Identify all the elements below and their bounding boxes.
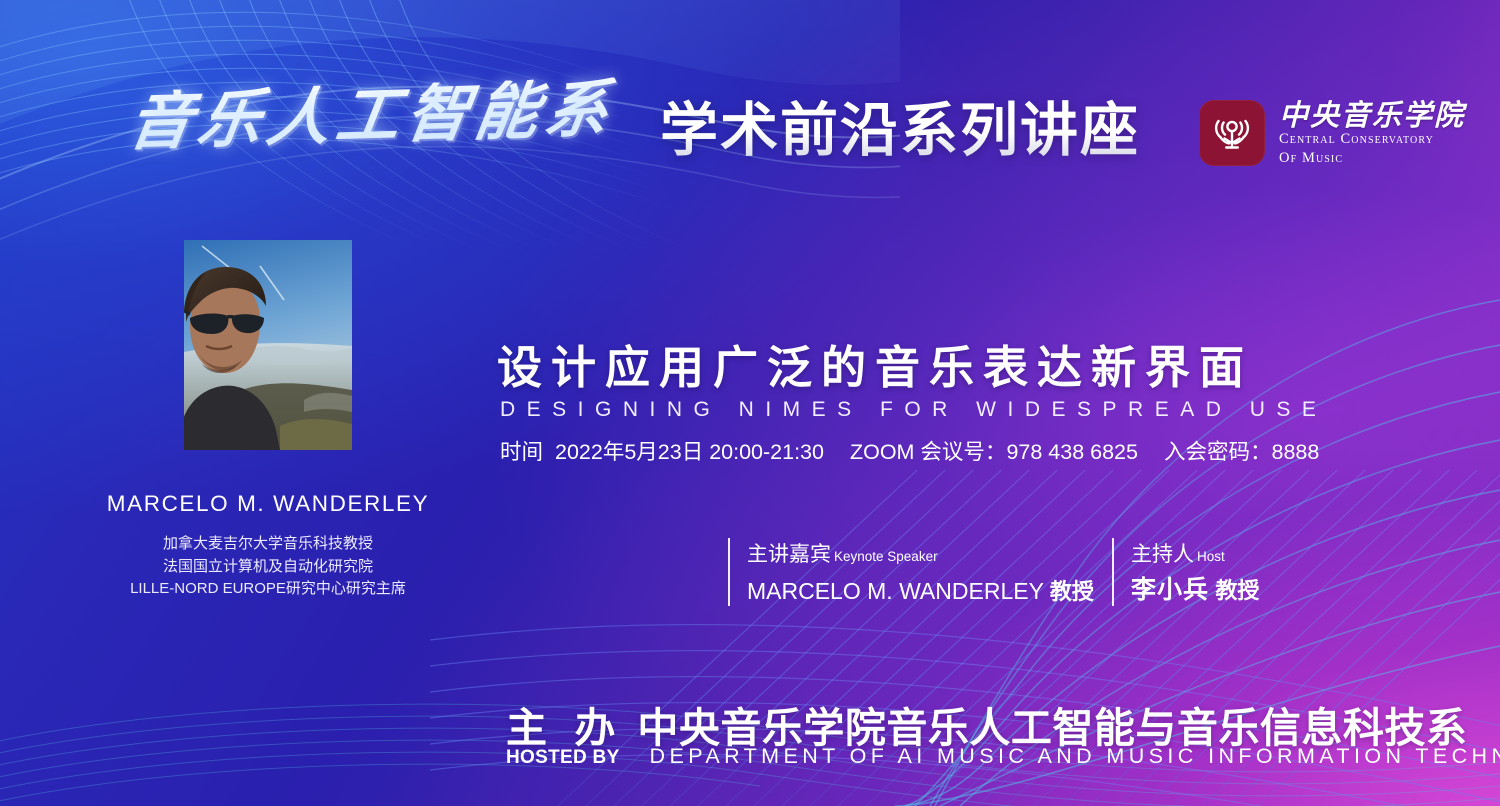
keynote-person-title: 教授 — [1050, 579, 1094, 604]
password-value: 8888 — [1271, 440, 1319, 464]
host-credit-body: 主持人 Host 李小兵 教授 — [1131, 538, 1259, 606]
zoom-label: ZOOM 会议号： — [850, 440, 1006, 464]
logo-name-cn: 中央音乐学院 — [1279, 100, 1465, 130]
logo-name-en-line1: Central Conservatory — [1279, 131, 1465, 148]
time-value: 2022年5月23日 20:00-21:30 — [555, 440, 824, 464]
keynote-person: MARCELO M. WANDERLEY 教授 — [747, 574, 1094, 606]
emblem-glyph — [1209, 110, 1255, 156]
speaker-affiliations: 加拿大麦吉尔大学音乐科技教授 法国国立计算机及自动化研究院 LILLE-NORD… — [50, 533, 486, 601]
series-title: 学术前沿系列讲座 — [660, 95, 1140, 168]
keynote-credit-body: 主讲嘉宾 Keynote Speaker MARCELO M. WANDERLE… — [747, 538, 1094, 606]
password-label: 入会密码： — [1164, 440, 1272, 464]
logo-text-block: 中央音乐学院 Central Conservatory Of Music — [1279, 100, 1465, 167]
host-person-title: 教授 — [1215, 578, 1259, 603]
footer-host-label-en: HOSTED BY — [506, 747, 620, 769]
credit-divider-bar — [1112, 538, 1114, 606]
conservatory-emblem-icon — [1199, 100, 1265, 166]
affiliation-line-1: 加拿大麦吉尔大学音乐科技教授 — [50, 533, 486, 556]
host-credit: 主持人 Host 李小兵 教授 — [1112, 538, 1259, 606]
affiliation-line-3: LILLE-NORD EUROPE研究中心研究主席 — [50, 578, 486, 601]
conservatory-logo: 中央音乐学院 Central Conservatory Of Music — [1199, 100, 1465, 167]
lecture-title-cn: 设计应用广泛的音乐表达新界面 — [497, 344, 1253, 392]
host-role-cn: 主持人 — [1131, 538, 1194, 568]
speaker-photo-illustration — [184, 240, 352, 450]
logo-name-en-line2: Of Music — [1279, 150, 1465, 167]
zoom-id: 978 438 6825 — [1006, 440, 1138, 464]
credit-divider-bar — [728, 538, 730, 606]
host-role-en: Host — [1197, 549, 1225, 564]
speaker-name: MARCELO M. WANDERLEY — [50, 491, 486, 517]
footer-organizer-en: HOSTED BY DEPARTMENT OF AI MUSIC AND MUS… — [506, 744, 1500, 769]
affiliation-line-2: 法国国立计算机及自动化研究院 — [50, 556, 486, 579]
speaker-photo — [184, 240, 352, 450]
keynote-role: 主讲嘉宾 Keynote Speaker — [747, 538, 1094, 568]
host-person-name: 李小兵 — [1131, 576, 1209, 604]
time-label: 时间 — [500, 440, 543, 464]
keynote-role-cn: 主讲嘉宾 — [747, 538, 831, 568]
lecture-meta: 时间2022年5月23日 20:00-21:30ZOOM 会议号：978 438… — [500, 435, 1319, 466]
host-role: 主持人 Host — [1131, 538, 1259, 568]
host-person: 李小兵 教授 — [1131, 570, 1259, 606]
keynote-speaker-credit: 主讲嘉宾 Keynote Speaker MARCELO M. WANDERLE… — [728, 538, 1094, 606]
event-poster: 音乐人工智能系 学术前沿系列讲座 中央音乐学院 — [0, 0, 1500, 806]
footer-organizer-name-en: DEPARTMENT OF AI MUSIC AND MUSIC INFORMA… — [650, 744, 1500, 769]
keynote-person-name: MARCELO M. WANDERLEY — [747, 578, 1044, 604]
lecture-title-en: DESIGNING NIMES FOR WIDESPREAD USE — [500, 398, 1327, 422]
calligraphy-department-title: 音乐人工智能系 — [124, 77, 619, 153]
keynote-role-en: Keynote Speaker — [834, 549, 938, 564]
